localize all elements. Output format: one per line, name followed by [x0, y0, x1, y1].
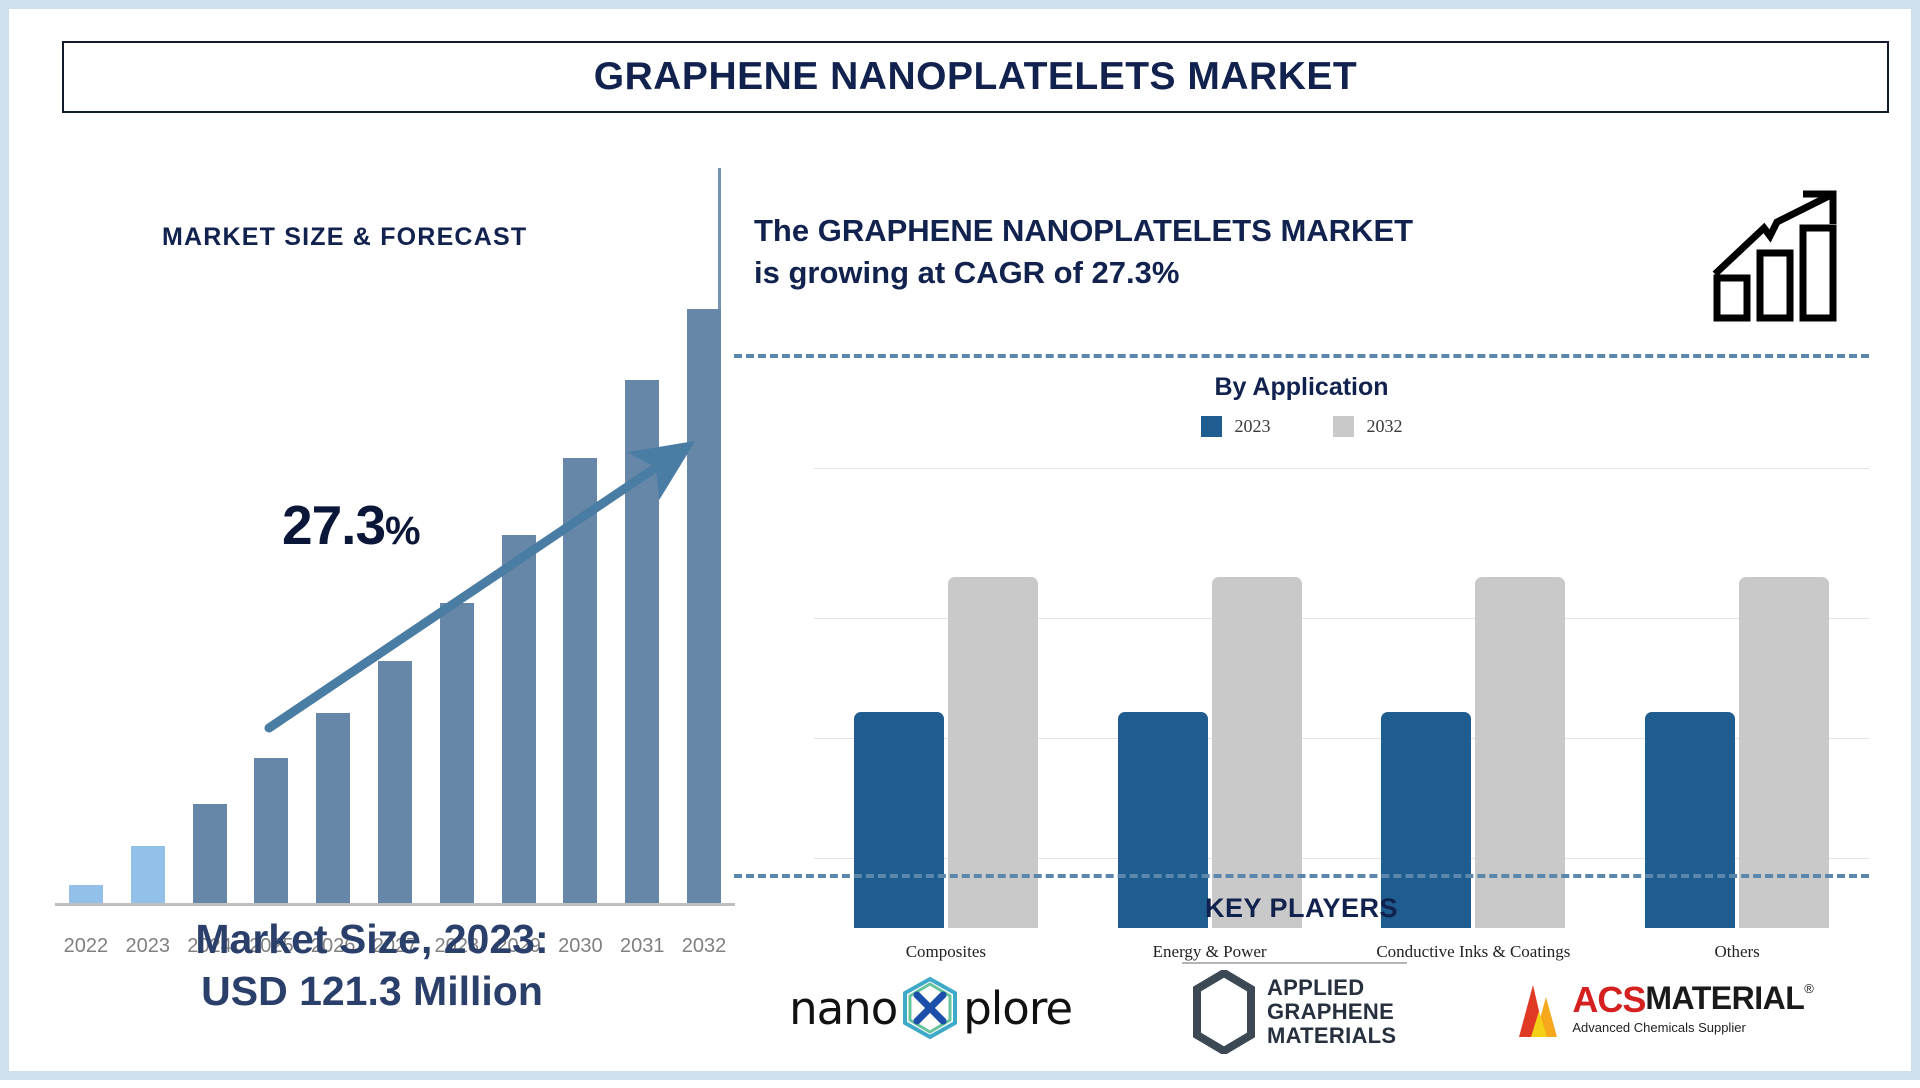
- nanoxplore-text-pre: nano: [789, 982, 897, 1035]
- page-title: GRAPHENE NANOPLATELETS MARKET: [594, 55, 1357, 99]
- hexagon-outline-icon: [1193, 970, 1255, 1054]
- gridline: [814, 468, 1869, 469]
- outer-frame: GRAPHENE NANOPLATELETS MARKET MARKET SIZ…: [0, 0, 1920, 1080]
- material-word: MATERIAL: [1645, 982, 1804, 1014]
- legend-item-2023[interactable]: 2023: [1201, 416, 1271, 437]
- legend-swatch: [1333, 416, 1354, 437]
- forecast-bar-2026: [302, 309, 364, 904]
- market-size-note-line2: USD 121.3 Million: [27, 965, 717, 1017]
- forecast-bar-2030: [550, 309, 612, 904]
- forecast-bar-2025: [240, 309, 302, 904]
- bar: [625, 380, 659, 904]
- by-application-title: By Application: [734, 373, 1869, 402]
- market-size-panel: MARKET SIZE & FORECAST 27.3% 20222023202…: [27, 168, 717, 1088]
- forecast-bar-2031: [611, 309, 673, 904]
- bar: [131, 846, 165, 904]
- legend-label: 2032: [1367, 416, 1403, 437]
- bar: [502, 535, 536, 904]
- bar: [254, 758, 288, 904]
- growth-headline-line1: The GRAPHENE NANOPLATELETS MARKET: [754, 210, 1684, 252]
- agm-line3: MATERIALS: [1267, 1024, 1396, 1048]
- forecast-bar-2029: [488, 309, 550, 904]
- flame-icon: [1517, 977, 1565, 1039]
- divider-top: [734, 354, 1869, 358]
- bar: [316, 713, 350, 904]
- forecast-bar-2023: [117, 309, 179, 904]
- legend-swatch: [1201, 416, 1222, 437]
- app-group-others: [1605, 478, 1869, 928]
- bar: [69, 885, 103, 904]
- bar: [378, 661, 412, 904]
- bar-chart-growth-icon: [1707, 186, 1852, 326]
- acs-tagline: Advanced Chemicals Supplier: [1572, 1021, 1814, 1034]
- application-panel: The GRAPHENE NANOPLATELETS MARKET is gro…: [734, 168, 1889, 1088]
- agm-line1: APPLIED: [1267, 976, 1396, 1000]
- logo-nanoxplore[interactable]: nano plore: [789, 946, 1072, 1071]
- acs-word: ACS: [1572, 982, 1645, 1018]
- title-box: GRAPHENE NANOPLATELETS MARKET: [62, 41, 1889, 113]
- logo-acs-material[interactable]: ACS MATERIAL ® Advanced Chemicals Suppli…: [1517, 946, 1814, 1071]
- x-axis-line: [55, 903, 735, 906]
- forecast-bar-2022: [55, 309, 117, 904]
- growth-headline: The GRAPHENE NANOPLATELETS MARKET is gro…: [754, 210, 1684, 294]
- logo-applied-graphene-materials[interactable]: APPLIED GRAPHENE MATERIALS: [1182, 946, 1407, 1071]
- app-group-composites: [814, 478, 1078, 928]
- application-legend: 20232032: [734, 416, 1869, 437]
- legend-item-2032[interactable]: 2032: [1333, 416, 1403, 437]
- x-hexagon-icon: [897, 975, 963, 1041]
- bar: [563, 458, 597, 904]
- forecast-bar-2028: [426, 309, 488, 904]
- divider-bottom: [734, 874, 1869, 878]
- key-players-title: KEY PLAYERS: [734, 893, 1869, 924]
- nanoxplore-text-post: plore: [963, 982, 1072, 1035]
- market-size-heading: MARKET SIZE & FORECAST: [162, 223, 527, 252]
- bar: [193, 804, 227, 904]
- inner-canvas: GRAPHENE NANOPLATELETS MARKET MARKET SIZ…: [18, 18, 1902, 1062]
- forecast-bar-2032: [673, 309, 735, 904]
- registered-mark: ®: [1804, 982, 1814, 995]
- legend-label: 2023: [1235, 416, 1271, 437]
- app-group-conductive-inks-coatings: [1342, 478, 1606, 928]
- market-size-note: Market Size, 2023: USD 121.3 Million: [27, 913, 717, 1018]
- forecast-bar-2024: [179, 309, 241, 904]
- forecast-bars: [55, 309, 735, 904]
- agm-line2: GRAPHENE: [1267, 1000, 1396, 1024]
- market-size-note-line1: Market Size, 2023:: [27, 913, 717, 965]
- bar: [687, 309, 721, 904]
- agm-rule: [1182, 962, 1407, 964]
- growth-headline-line2: is growing at CAGR of 27.3%: [754, 252, 1684, 294]
- key-players-logos: nano plore: [734, 943, 1869, 1073]
- app-group-energy-power: [1078, 478, 1342, 928]
- application-bars: [814, 478, 1869, 928]
- forecast-bar-2027: [364, 309, 426, 904]
- bar: [440, 603, 474, 904]
